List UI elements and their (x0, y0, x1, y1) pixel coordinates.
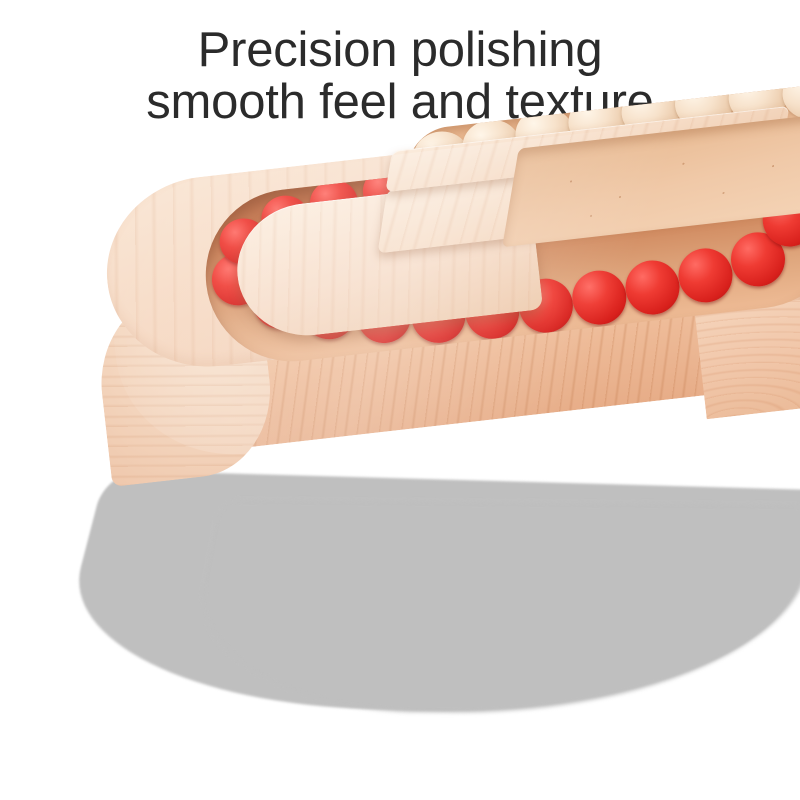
bead-red[interactable] (676, 246, 736, 306)
bead-red[interactable] (569, 268, 629, 328)
board-wrap (72, 58, 800, 548)
bead-red[interactable] (623, 258, 683, 318)
wooden-board-assembly (0, 0, 800, 800)
product-feature-image: Precision polishing smooth feel and text… (0, 0, 800, 800)
